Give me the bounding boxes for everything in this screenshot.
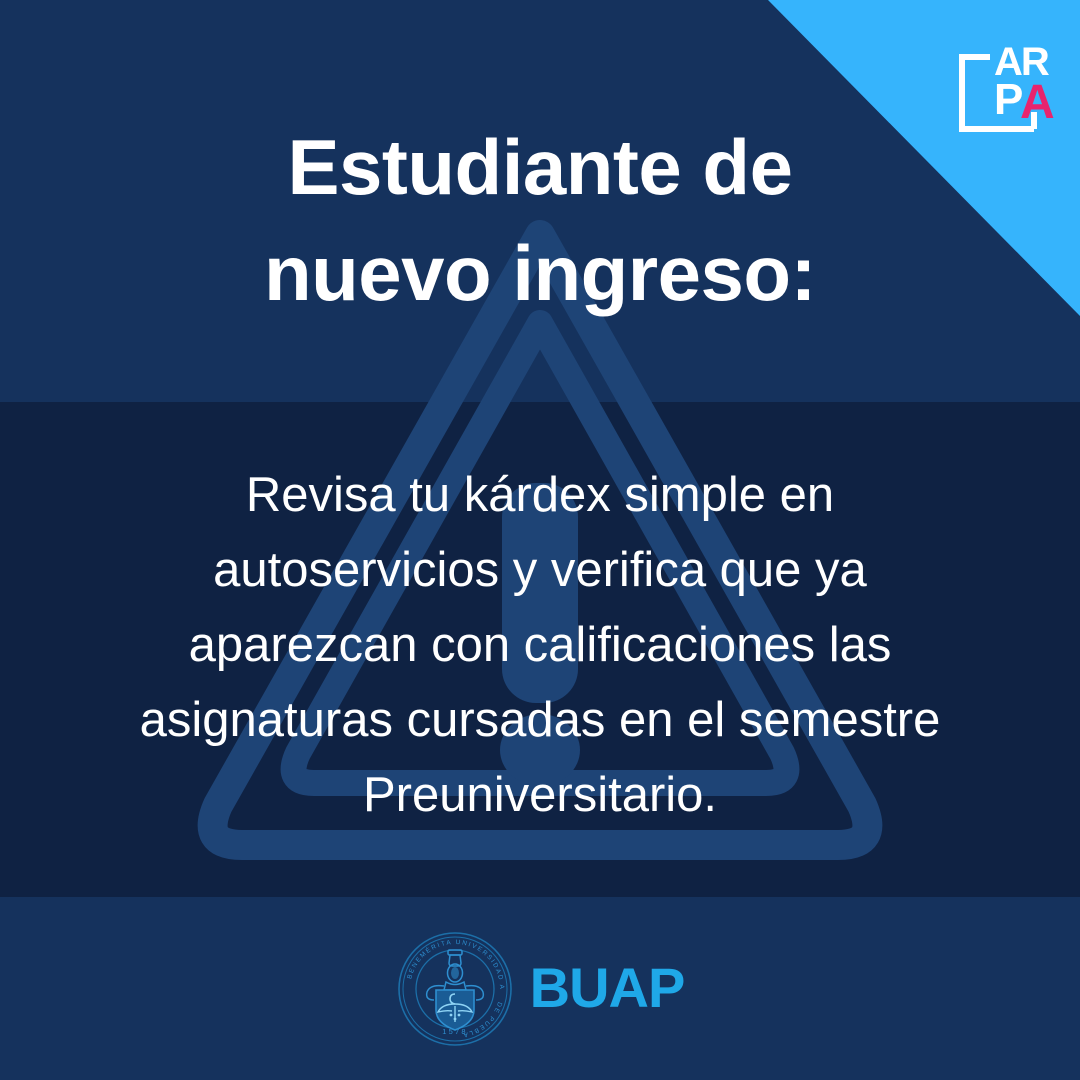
body-line-1: Revisa tu kárdex simple en xyxy=(60,458,1020,533)
buap-university-seal: BENEMÉRITA UNIVERSIDAD AUTÓNOMA DE PUEBL… xyxy=(396,930,514,1048)
announcement-poster: AR P A Estudiante de nuevo ingreso: Revi… xyxy=(0,0,1080,1080)
body-line-3: aparezcan con calificaciones las xyxy=(60,608,1020,683)
svg-text:BENEMÉRITA UNIVERSIDAD AUTÓNOM: BENEMÉRITA UNIVERSIDAD AUTÓNOMA xyxy=(396,930,505,991)
body-line-2: autoservicios y verifica que ya xyxy=(60,533,1020,608)
page-title: Estudiante de nuevo ingreso: xyxy=(0,114,1080,326)
headline-line-2: nuevo ingreso: xyxy=(150,220,930,326)
footer-brand-lockup: BENEMÉRITA UNIVERSIDAD AUTÓNOMA DE PUEBL… xyxy=(0,897,1080,1080)
body-line-4: asignaturas cursadas en el semestre xyxy=(60,683,1020,758)
buap-wordmark: BUAP xyxy=(530,960,685,1018)
body-message: Revisa tu kárdex simple en autoservicios… xyxy=(0,458,1080,833)
body-line-5: Preuniversitario. xyxy=(60,758,1020,833)
headline-line-1: Estudiante de xyxy=(150,114,930,220)
